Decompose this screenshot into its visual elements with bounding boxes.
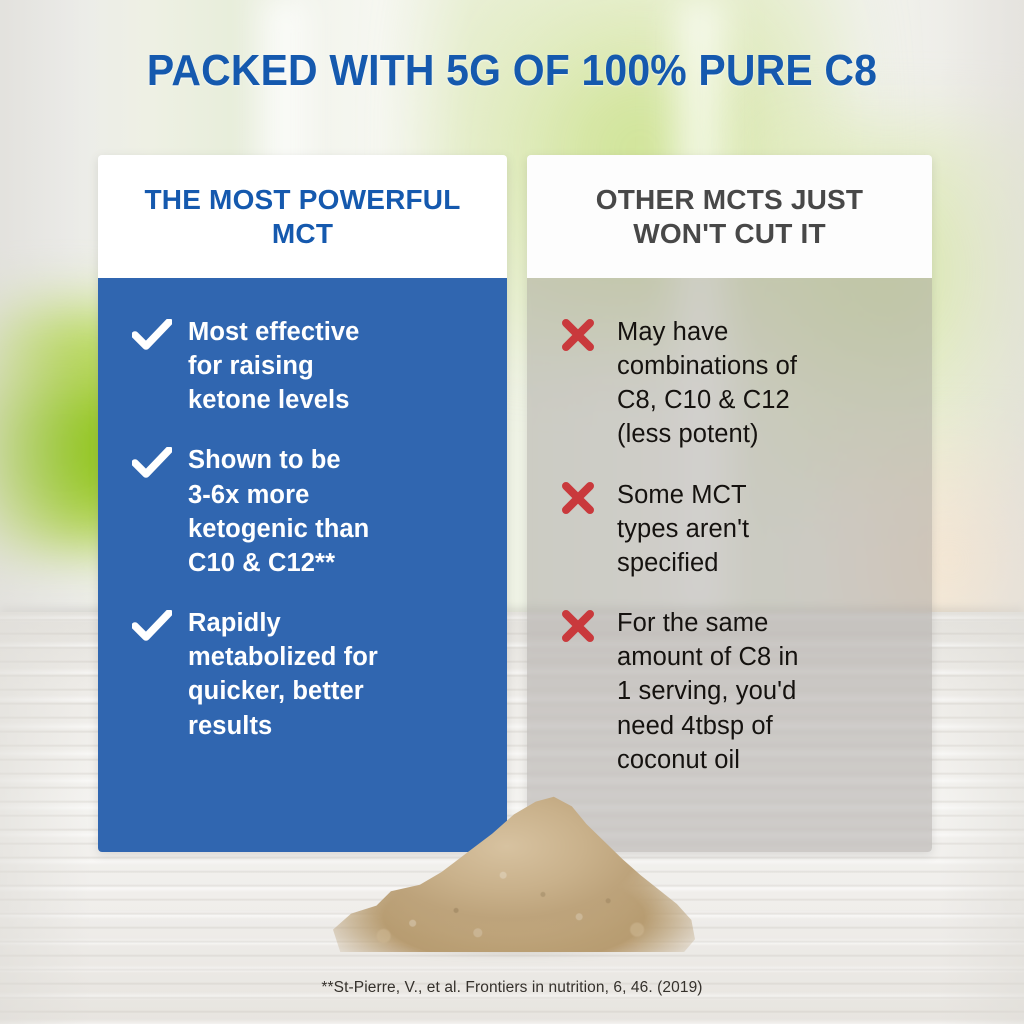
card-right-header: OTHER MCTS JUST WON'T CUT IT: [527, 155, 932, 278]
list-item: May have combinations of C8, C10 & C12 (…: [561, 315, 908, 452]
list-item-label: Shown to be 3-6x more ketogenic than C10…: [188, 443, 369, 580]
list-item-label: May have combinations of C8, C10 & C12 (…: [617, 315, 797, 452]
cross-icon: [561, 606, 617, 642]
list-item: For the same amount of C8 in 1 serving, …: [561, 606, 908, 777]
check-icon: [132, 315, 188, 351]
comparison-card-left: THE MOST POWERFUL MCT Most effective for…: [98, 155, 507, 852]
list-item-label: Most effective for raising ketone levels: [188, 315, 359, 417]
infographic-canvas: PACKED WITH 5G OF 100% PURE C8 THE MOST …: [0, 0, 1024, 1024]
list-item: Rapidly metabolized for quicker, better …: [132, 606, 483, 743]
card-right-heading-text: OTHER MCTS JUST WON'T CUT IT: [553, 183, 906, 250]
cross-icon: [561, 478, 617, 514]
check-icon: [132, 606, 188, 642]
list-item-label: For the same amount of C8 in 1 serving, …: [617, 606, 799, 777]
card-left-heading-text: THE MOST POWERFUL MCT: [124, 183, 481, 250]
card-right-body: May have combinations of C8, C10 & C12 (…: [527, 278, 932, 852]
comparison-card-right: OTHER MCTS JUST WON'T CUT IT May have co…: [527, 155, 932, 852]
page-title: PACKED WITH 5G OF 100% PURE C8: [36, 46, 988, 96]
list-item: Some MCT types aren't specified: [561, 478, 908, 580]
citation-footnote: **St-Pierre, V., et al. Frontiers in nut…: [0, 979, 1024, 997]
mct-powder-mound-image: [333, 782, 695, 960]
cross-icon: [561, 315, 617, 351]
list-item-label: Rapidly metabolized for quicker, better …: [188, 606, 378, 743]
drawback-list: May have combinations of C8, C10 & C12 (…: [561, 315, 908, 777]
check-icon: [132, 443, 188, 479]
card-left-body: Most effective for raising ketone levels…: [98, 278, 507, 852]
list-item-label: Some MCT types aren't specified: [617, 478, 749, 580]
card-left-header: THE MOST POWERFUL MCT: [98, 155, 507, 278]
benefit-list: Most effective for raising ketone levels…: [132, 315, 483, 743]
list-item: Shown to be 3-6x more ketogenic than C10…: [132, 443, 483, 580]
list-item: Most effective for raising ketone levels: [132, 315, 483, 417]
powder-texture: [333, 792, 695, 952]
